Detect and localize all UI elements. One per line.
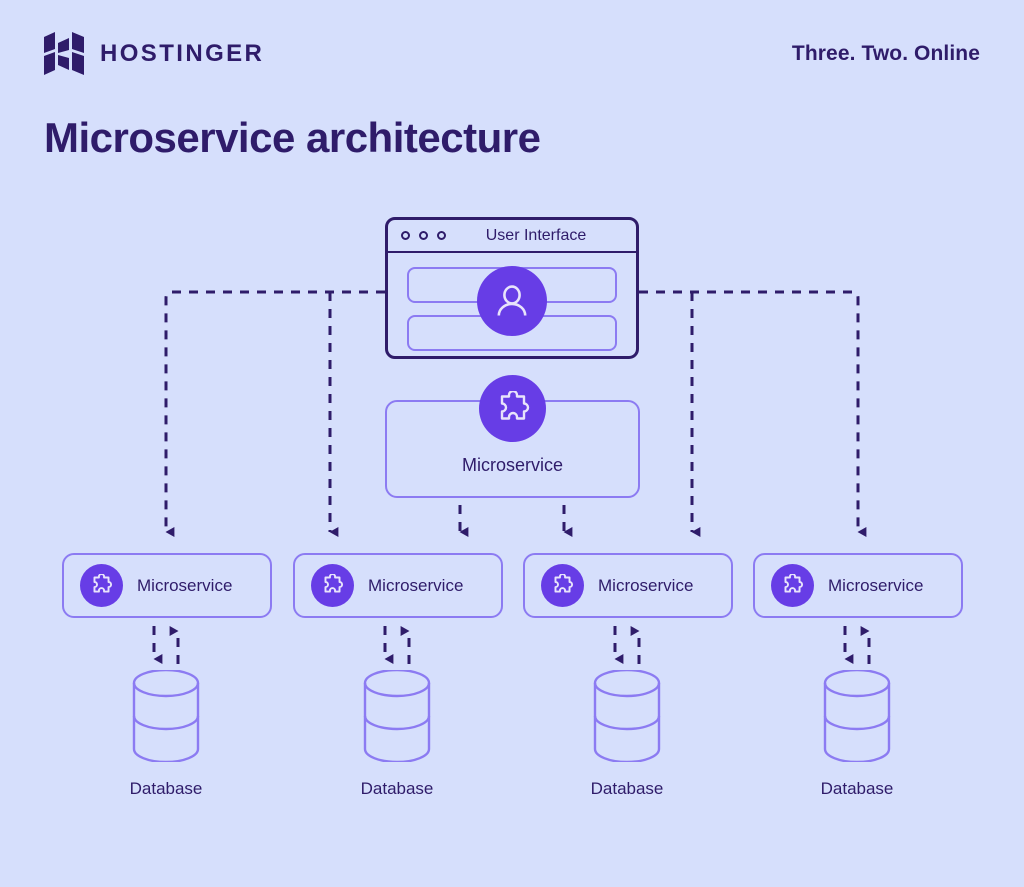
- ui-window-titlebar: User Interface: [388, 220, 636, 253]
- microservice-badge-4: [771, 564, 814, 607]
- architecture-diagram: User Interface Microservice: [0, 0, 1024, 887]
- database-node-1[interactable]: Database: [126, 670, 206, 799]
- database-cylinder-icon: [357, 670, 437, 762]
- database-label-2: Database: [357, 779, 437, 799]
- user-icon: [493, 282, 531, 320]
- database-label-3: Database: [587, 779, 667, 799]
- database-node-2[interactable]: Database: [357, 670, 437, 799]
- microservice-node-1[interactable]: Microservice: [62, 553, 272, 618]
- microservice-label-4: Microservice: [828, 576, 923, 596]
- microservice-label-2: Microservice: [368, 576, 463, 596]
- database-cylinder-icon: [817, 670, 897, 762]
- puzzle-piece-icon: [321, 574, 344, 597]
- central-microservice-label: Microservice: [387, 455, 638, 476]
- database-cylinder-icon: [587, 670, 667, 762]
- puzzle-piece-icon: [551, 574, 574, 597]
- microservice-badge-2: [311, 564, 354, 607]
- edge-ui-to-service-1: [166, 292, 385, 532]
- puzzle-piece-icon: [495, 391, 531, 427]
- diagram-canvas: HOSTINGER Three. Two. Online Microservic…: [0, 0, 1024, 887]
- edge-ui-to-service-4: [639, 292, 858, 532]
- microservice-node-4[interactable]: Microservice: [753, 553, 963, 618]
- database-cylinder-icon: [126, 670, 206, 762]
- database-label-1: Database: [126, 779, 206, 799]
- database-node-3[interactable]: Database: [587, 670, 667, 799]
- central-microservice-badge: [479, 375, 546, 442]
- puzzle-piece-icon: [90, 574, 113, 597]
- microservice-badge-1: [80, 564, 123, 607]
- ui-window-title: User Interface: [388, 227, 636, 245]
- user-avatar-badge: [477, 266, 547, 336]
- microservice-badge-3: [541, 564, 584, 607]
- microservice-node-3[interactable]: Microservice: [523, 553, 733, 618]
- microservice-label-3: Microservice: [598, 576, 693, 596]
- database-label-4: Database: [817, 779, 897, 799]
- database-node-4[interactable]: Database: [817, 670, 897, 799]
- microservice-label-1: Microservice: [137, 576, 232, 596]
- puzzle-piece-icon: [781, 574, 804, 597]
- microservice-node-2[interactable]: Microservice: [293, 553, 503, 618]
